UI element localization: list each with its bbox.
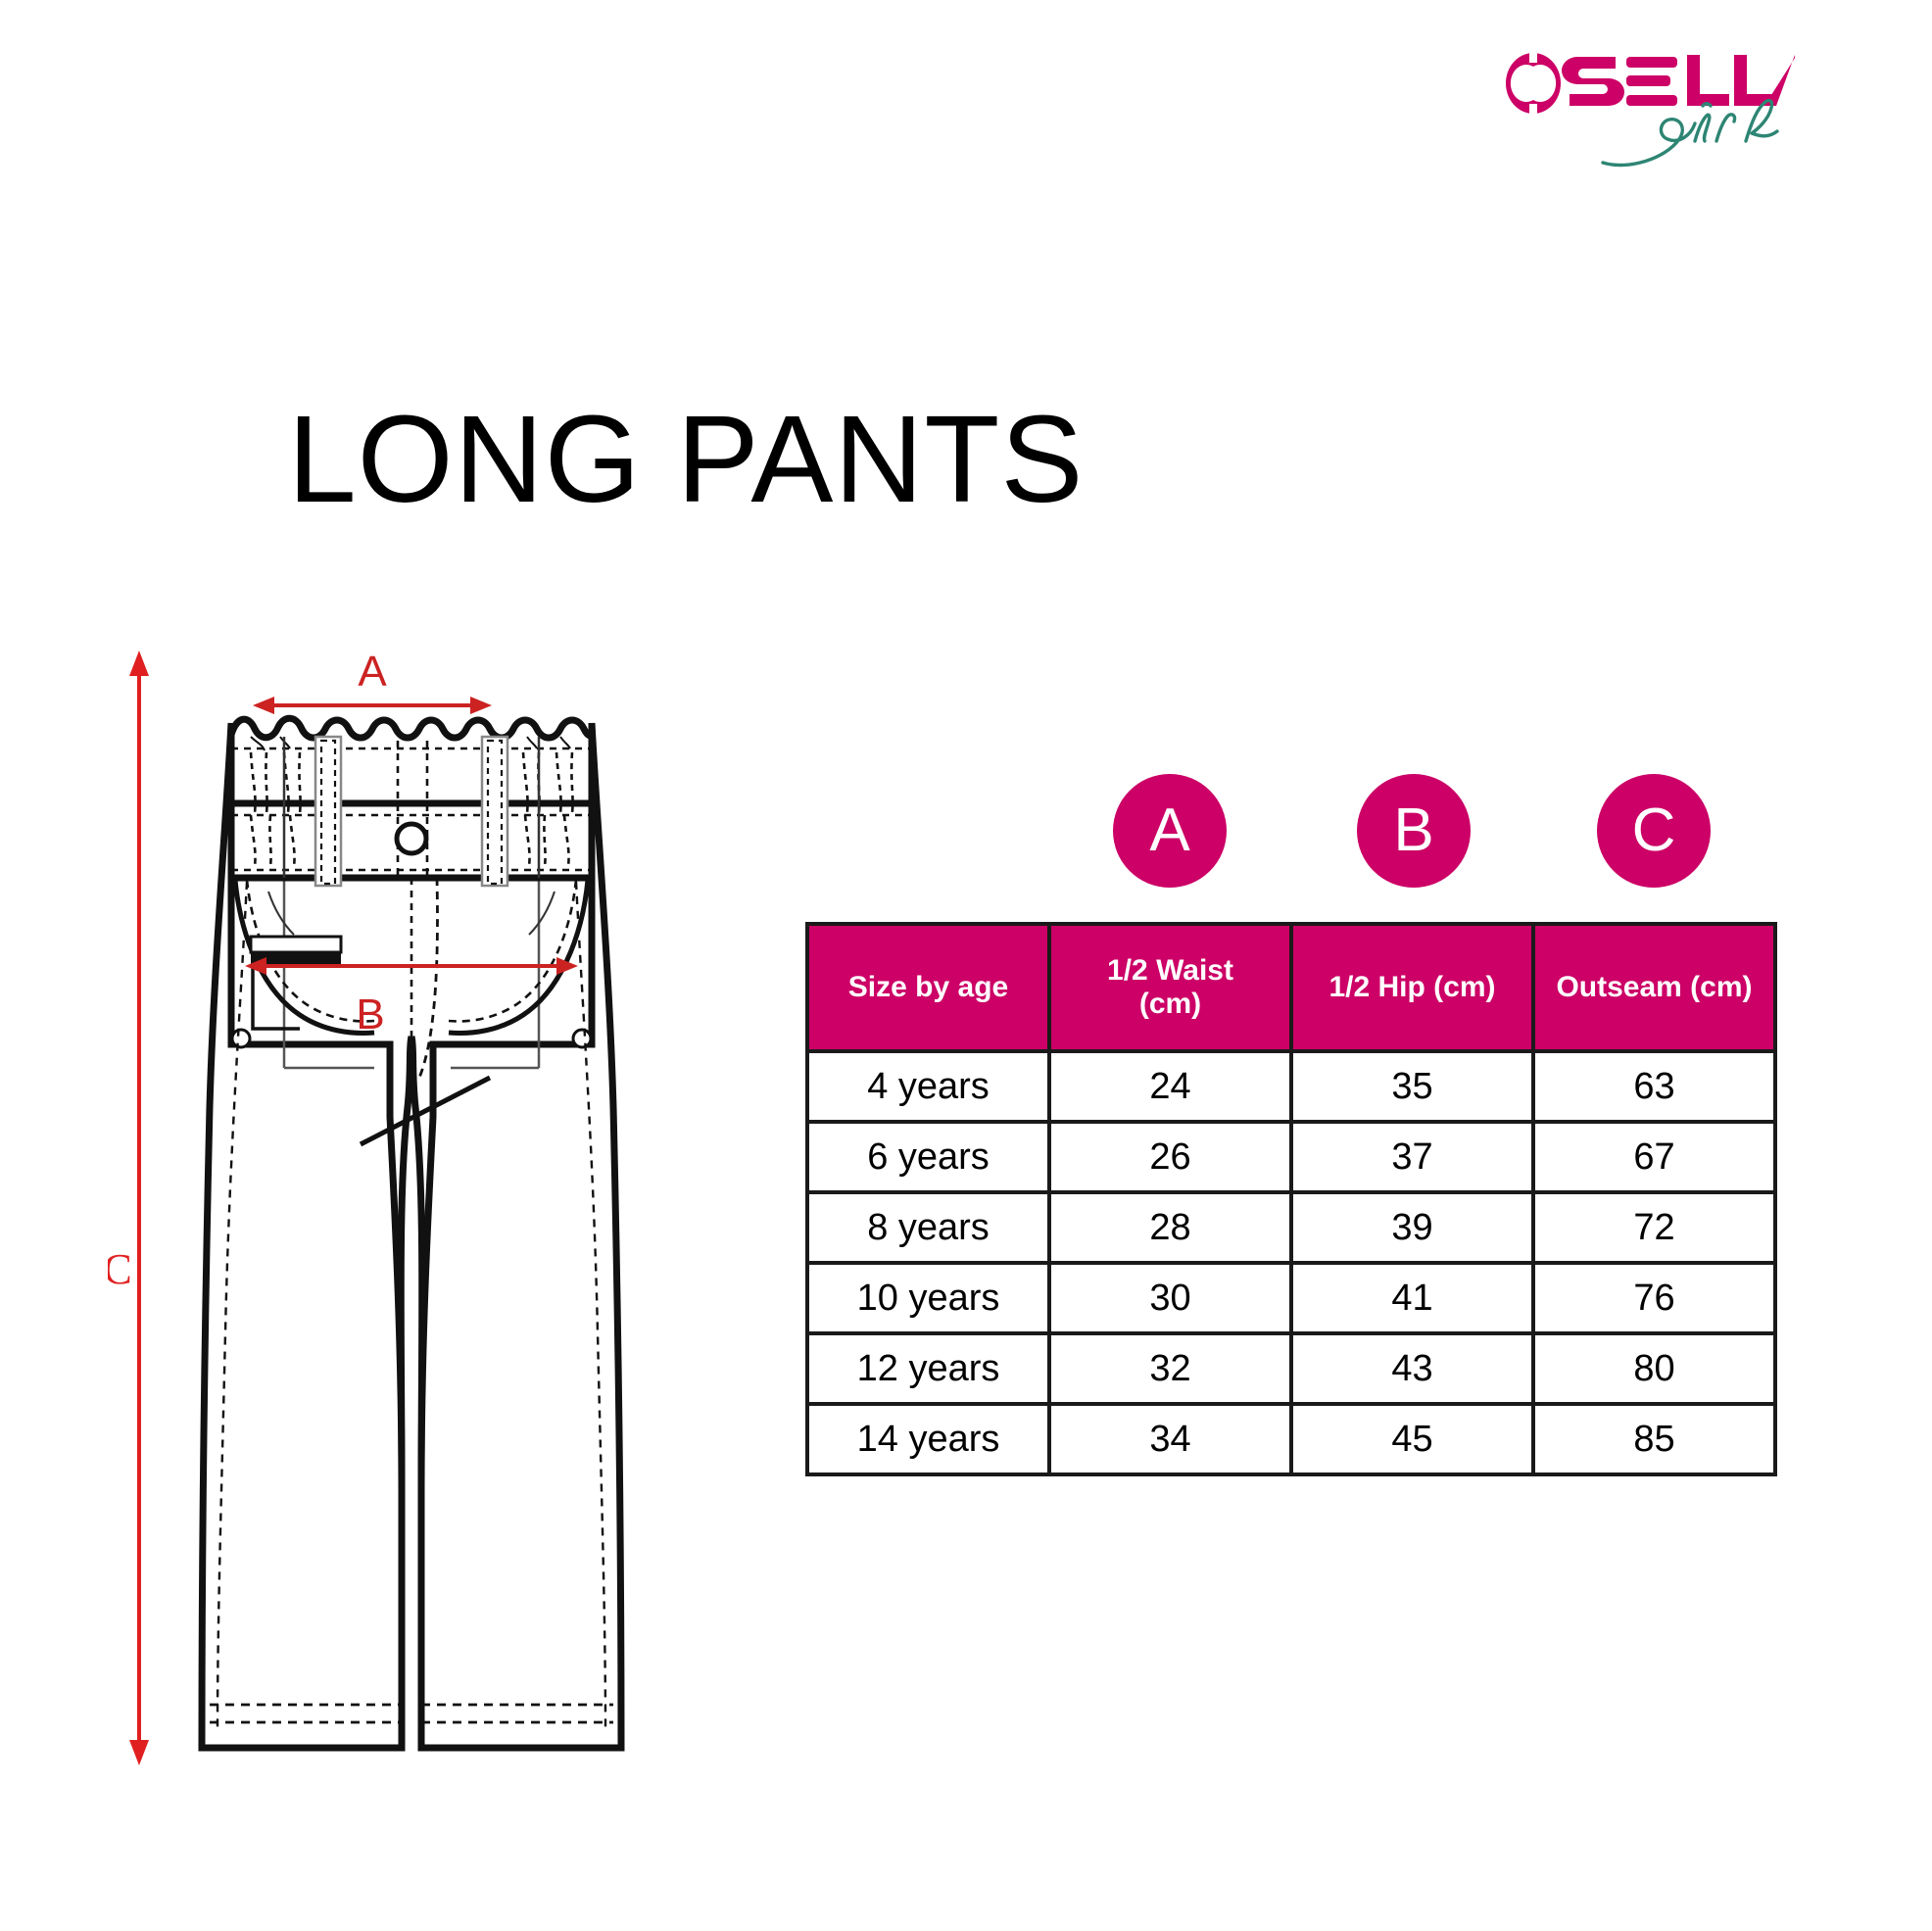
brand-logo [1501,47,1795,174]
page-title: LONG PANTS [0,398,1372,521]
table-header-row: Size by age 1/2 Waist (cm) 1/2 Hip (cm) … [807,924,1775,1051]
measure-c-arrow: C [108,651,149,1765]
pants-technical-drawing: C A [108,647,715,1803]
cell-outseam: 76 [1533,1263,1775,1333]
cell-outseam: 67 [1533,1122,1775,1192]
cell-size: 4 years [807,1051,1049,1122]
paperbag-waistband [231,718,592,886]
cell-size: 8 years [807,1192,1049,1263]
belt-loop-right [482,737,507,886]
measure-a-label: A [358,648,387,696]
cell-hip: 39 [1291,1192,1533,1263]
cell-size: 10 years [807,1263,1049,1333]
girl-script-icon [1589,94,1805,172]
cell-hip: 35 [1291,1051,1533,1122]
table-row: 14 years 34 45 85 [807,1404,1775,1474]
badge-b: B [1357,774,1471,888]
table-row: 10 years 30 41 76 [807,1263,1775,1333]
rivet-right-icon [573,1030,591,1047]
header-half-waist: 1/2 Waist (cm) [1049,924,1291,1051]
table-row: 8 years 28 39 72 [807,1192,1775,1263]
cell-size: 6 years [807,1122,1049,1192]
cell-hip: 41 [1291,1263,1533,1333]
measure-b-label: B [356,990,384,1038]
size-chart-table: Size by age 1/2 Waist (cm) 1/2 Hip (cm) … [805,922,1777,1476]
cell-waist: 30 [1049,1263,1291,1333]
size-chart-table-wrapper: Size by age 1/2 Waist (cm) 1/2 Hip (cm) … [805,922,1777,1476]
cell-waist: 32 [1049,1333,1291,1404]
header-half-waist-line2: (cm) [1139,988,1201,1020]
table-row: 6 years 26 37 67 [807,1122,1775,1192]
cell-waist: 34 [1049,1404,1291,1474]
cell-outseam: 80 [1533,1333,1775,1404]
cell-hip: 37 [1291,1122,1533,1192]
badge-c: C [1597,774,1711,888]
header-size-by-age: Size by age [807,924,1049,1051]
cell-size: 14 years [807,1404,1049,1474]
waistband-button-icon [397,824,426,853]
header-half-waist-line1: 1/2 Waist [1107,954,1233,987]
cell-waist: 28 [1049,1192,1291,1263]
cell-size: 12 years [807,1333,1049,1404]
measure-c-label: C [108,1245,132,1293]
header-outseam: Outseam (cm) [1533,924,1775,1051]
cell-hip: 45 [1291,1404,1533,1474]
table-row: 4 years 24 35 63 [807,1051,1775,1122]
cell-waist: 24 [1049,1051,1291,1122]
cell-hip: 43 [1291,1333,1533,1404]
belt-loop-left [315,737,341,886]
cell-outseam: 85 [1533,1404,1775,1474]
cell-outseam: 72 [1533,1192,1775,1263]
badge-a: A [1113,774,1227,888]
cell-waist: 26 [1049,1122,1291,1192]
header-half-hip: 1/2 Hip (cm) [1291,924,1533,1051]
rivet-left-icon [232,1030,250,1047]
table-row: 12 years 32 43 80 [807,1333,1775,1404]
cell-outseam: 63 [1533,1051,1775,1122]
measure-a-arrow: A [253,648,492,714]
